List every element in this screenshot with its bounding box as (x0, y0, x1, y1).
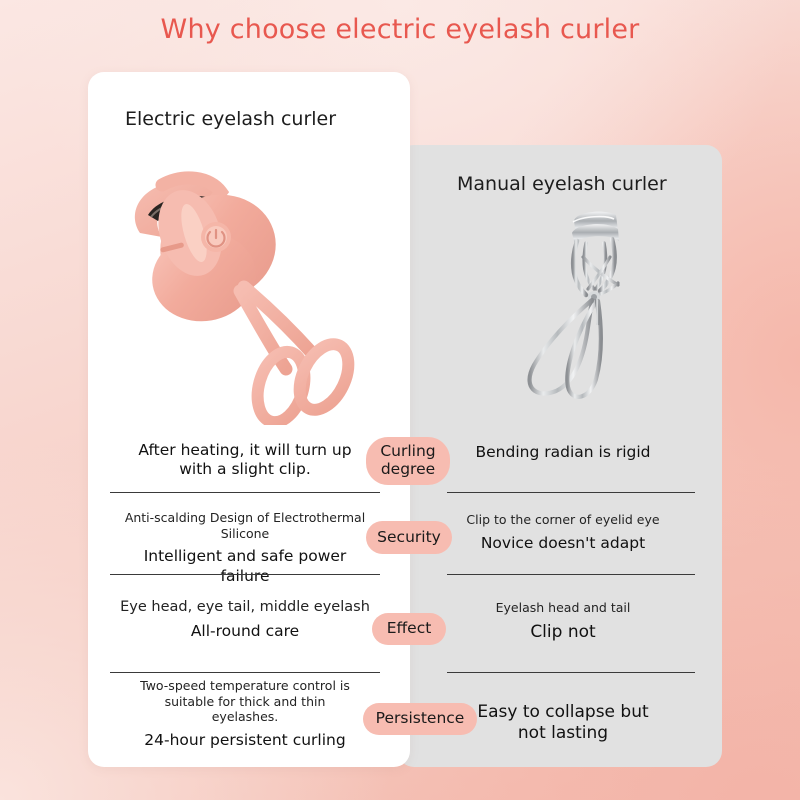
row-1-electric-large: After heating, it will turn up with a sl… (100, 441, 390, 480)
row-3-electric-small: Eye head, eye tail, middle eyelash (100, 598, 390, 616)
row-3-electric-cell: Eye head, eye tail, middle eyelash All-r… (100, 598, 390, 642)
row-3-electric-large: All-round care (100, 622, 390, 641)
row-3-label-pill: Effect (372, 613, 446, 645)
row-1-left-divider (110, 492, 380, 493)
row-1-manual-large: Bending radian is rigid (432, 443, 694, 462)
row-4-electric-large: 24-hour persistent curling (100, 731, 390, 750)
row-1-right-divider (447, 492, 695, 493)
manual-eyelash-curler-icon (498, 205, 688, 410)
row-3-manual-large: Clip not (432, 622, 694, 643)
row-3-manual-small: Eyelash head and tail (432, 600, 694, 616)
row-2-manual-cell: Clip to the corner of eyelid eye Novice … (432, 512, 694, 553)
row-2-electric-small: Anti-scalding Design of Electrothermal S… (100, 510, 390, 541)
row-2-manual-large: Novice doesn't adapt (432, 534, 694, 553)
row-4-electric-cell: Two-speed temperature control is suitabl… (100, 678, 390, 750)
row-2-manual-small: Clip to the corner of eyelid eye (432, 512, 694, 528)
row-3-left-divider (110, 672, 380, 673)
row-3-manual-cell: Eyelash head and tail Clip not (432, 600, 694, 643)
row-2-label-pill: Security (366, 521, 452, 554)
row-3-right-divider (447, 672, 695, 673)
electric-column-heading: Electric eyelash curler (125, 108, 336, 130)
manual-column-heading: Manual eyelash curler (457, 173, 667, 195)
row-4-electric-small: Two-speed temperature control is suitabl… (100, 678, 390, 725)
row-2-right-divider (447, 574, 695, 575)
row-4-label-pill: Persistence (363, 703, 477, 735)
electric-eyelash-curler-icon (118, 155, 368, 425)
row-2-electric-large: Intelligent and safe power failure (100, 547, 390, 586)
row-1-label-pill: Curling degree (366, 437, 450, 485)
row-1-manual-cell: Bending radian is rigid (432, 443, 694, 462)
row-1-electric-cell: After heating, it will turn up with a sl… (100, 441, 390, 480)
row-2-left-divider (110, 574, 380, 575)
page-title: Why choose electric eyelash curler (0, 14, 800, 45)
